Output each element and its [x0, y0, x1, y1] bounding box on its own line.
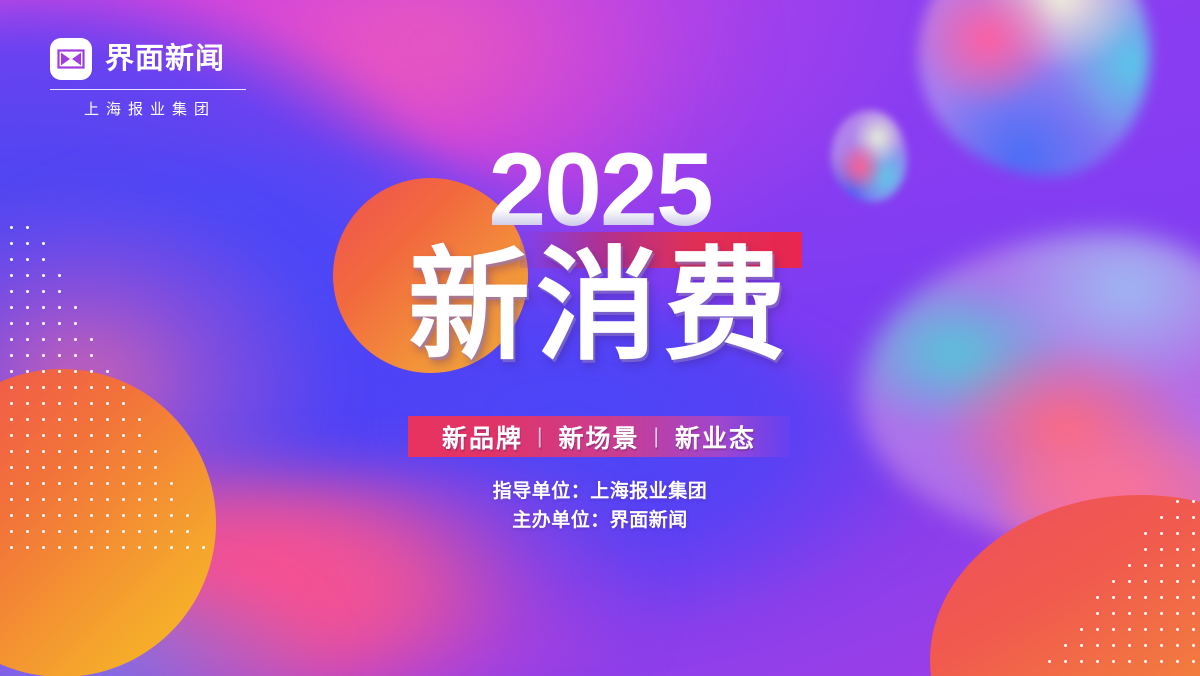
decorative-dot: [74, 402, 77, 405]
decorative-dot: [1064, 660, 1067, 663]
decorative-dot: [1192, 548, 1195, 551]
credits-block: 指导单位：上海报业集团 主办单位：界面新闻: [0, 478, 1200, 535]
tagline-separator-2: |: [654, 425, 661, 449]
decorative-dot: [90, 386, 93, 389]
decorative-dot: [26, 546, 29, 549]
decorative-dot: [26, 434, 29, 437]
decorative-dot: [1160, 644, 1163, 647]
decorative-dot: [106, 546, 109, 549]
decorative-dot: [42, 546, 45, 549]
decorative-dot: [26, 418, 29, 421]
decorative-dot: [122, 434, 125, 437]
decorative-dot: [90, 402, 93, 405]
poster-canvas: 界面新闻 上海报业集团 2025 新消费 新品牌 | 新场景 | 新业态 指导单…: [0, 0, 1200, 676]
decorative-dot: [58, 434, 61, 437]
decorative-dot: [1160, 548, 1163, 551]
decorative-dot: [1176, 564, 1179, 567]
decorative-dot: [10, 418, 13, 421]
decorative-dot: [1144, 548, 1147, 551]
decorative-dot: [58, 466, 61, 469]
decorative-dot: [1144, 612, 1147, 615]
decorative-dot: [1112, 628, 1115, 631]
decorative-dot: [1048, 660, 1051, 663]
decorative-dot: [106, 402, 109, 405]
decorative-dot: [1144, 580, 1147, 583]
decorative-dot: [1176, 548, 1179, 551]
decorative-dot: [154, 450, 157, 453]
decorative-dot: [1112, 580, 1115, 583]
decorative-dot: [1176, 596, 1179, 599]
decorative-dot: [186, 546, 189, 549]
decorative-dot: [10, 434, 13, 437]
decorative-dot: [1128, 564, 1131, 567]
decorative-dot: [138, 450, 141, 453]
decorative-dot: [1144, 564, 1147, 567]
decorative-dot: [138, 418, 141, 421]
tagline-separator-1: |: [537, 425, 544, 449]
decorative-dot: [74, 450, 77, 453]
brand-wordmark: 界面新闻: [105, 45, 225, 74]
decorative-dot: [1192, 660, 1195, 663]
decorative-dot: [1128, 628, 1131, 631]
decorative-dot: [138, 434, 141, 437]
brand-subtitle: 上海报业集团: [50, 98, 246, 119]
decorative-dot: [138, 546, 141, 549]
decorative-dot: [1096, 660, 1099, 663]
decorative-dot: [42, 418, 45, 421]
brand-divider: [50, 89, 246, 90]
decorative-dot: [1112, 596, 1115, 599]
decorative-dot: [1160, 596, 1163, 599]
decorative-dot: [58, 546, 61, 549]
decorative-dot: [1144, 660, 1147, 663]
decorative-dot: [1128, 580, 1131, 583]
decorative-dot: [1144, 596, 1147, 599]
decorative-dot: [1144, 644, 1147, 647]
decorative-dot: [106, 386, 109, 389]
year-heading: 2025: [0, 138, 1200, 242]
decorative-dot: [1096, 596, 1099, 599]
decorative-dot: [154, 466, 157, 469]
decorative-dot: [58, 402, 61, 405]
decorative-dot: [26, 386, 29, 389]
credit-guidance-unit: 指导单位：上海报业集团: [0, 478, 1200, 507]
decorative-dot: [1112, 660, 1115, 663]
decorative-dot: [42, 466, 45, 469]
decorative-dot: [138, 466, 141, 469]
decorative-dot: [74, 386, 77, 389]
decorative-dot: [122, 386, 125, 389]
credit-organizer-unit: 主办单位：界面新闻: [0, 507, 1200, 536]
decorative-dot: [1128, 612, 1131, 615]
decorative-dot: [106, 418, 109, 421]
decorative-dot: [74, 466, 77, 469]
decorative-dot: [10, 466, 13, 469]
decorative-dot: [74, 546, 77, 549]
decorative-dot: [1192, 596, 1195, 599]
decorative-dot: [90, 434, 93, 437]
page-title: 新消费: [0, 236, 1200, 376]
decorative-dot: [42, 450, 45, 453]
decorative-dot: [1096, 644, 1099, 647]
decorative-dot: [1176, 628, 1179, 631]
decorative-dot: [1160, 660, 1163, 663]
decorative-dot: [74, 434, 77, 437]
decorative-dot: [58, 386, 61, 389]
decorative-dot: [42, 434, 45, 437]
decorative-dot: [10, 450, 13, 453]
decorative-dot: [1112, 612, 1115, 615]
decorative-dot: [26, 450, 29, 453]
decorative-dot: [1176, 580, 1179, 583]
decorative-dot: [1192, 644, 1195, 647]
decorative-dot: [1080, 628, 1083, 631]
decorative-dot: [1176, 644, 1179, 647]
decorative-dot: [1160, 564, 1163, 567]
brand-logo[interactable]: 界面新闻 上海报业集团: [50, 38, 246, 119]
decorative-dot: [10, 546, 13, 549]
decorative-dot: [90, 450, 93, 453]
decorative-dot: [1192, 564, 1195, 567]
decorative-dot: [42, 386, 45, 389]
decorative-dot: [1192, 628, 1195, 631]
decorative-dot: [1080, 660, 1083, 663]
decorative-dot: [26, 466, 29, 469]
decorative-dot: [58, 450, 61, 453]
decorative-dot: [10, 402, 13, 405]
decorative-dot: [1160, 628, 1163, 631]
decorative-dot: [106, 466, 109, 469]
decorative-dot: [26, 402, 29, 405]
decorative-dot: [1096, 628, 1099, 631]
tagline-item-1: 新品牌: [442, 419, 523, 455]
decorative-dot: [1160, 580, 1163, 583]
tagline-list: 新品牌 | 新场景 | 新业态: [408, 416, 790, 457]
decorative-dot: [122, 418, 125, 421]
brand-logo-row: 界面新闻: [50, 38, 246, 80]
decorative-dot: [1144, 628, 1147, 631]
tagline-item-2: 新场景: [558, 419, 639, 455]
decorative-dot: [170, 546, 173, 549]
decorative-dot: [106, 434, 109, 437]
decorative-dot: [58, 418, 61, 421]
decorative-dot: [42, 402, 45, 405]
decorative-dot: [1176, 612, 1179, 615]
decorative-dot: [154, 546, 157, 549]
decorative-dot: [1192, 580, 1195, 583]
decorative-dot: [1080, 644, 1083, 647]
decorative-dot: [90, 546, 93, 549]
decorative-dot: [202, 546, 205, 549]
jiemian-bowtie-logo-icon: [50, 38, 92, 80]
decorative-dot: [106, 450, 109, 453]
tagline-item-3: 新业态: [675, 419, 756, 455]
decorative-dot: [122, 450, 125, 453]
decorative-dot: [122, 546, 125, 549]
decorative-dot: [122, 466, 125, 469]
decorative-dot: [1192, 612, 1195, 615]
decorative-dot: [122, 402, 125, 405]
decorative-dot: [1096, 612, 1099, 615]
decorative-dot: [1112, 644, 1115, 647]
decorative-dot: [1128, 596, 1131, 599]
decorative-dot: [1064, 644, 1067, 647]
decorative-dot: [1128, 644, 1131, 647]
decorative-dot: [1176, 660, 1179, 663]
decorative-dot: [74, 418, 77, 421]
decorative-dot: [1160, 612, 1163, 615]
decorative-dot: [10, 386, 13, 389]
decorative-dot: [90, 466, 93, 469]
decorative-dot: [1128, 660, 1131, 663]
decorative-dot: [90, 418, 93, 421]
